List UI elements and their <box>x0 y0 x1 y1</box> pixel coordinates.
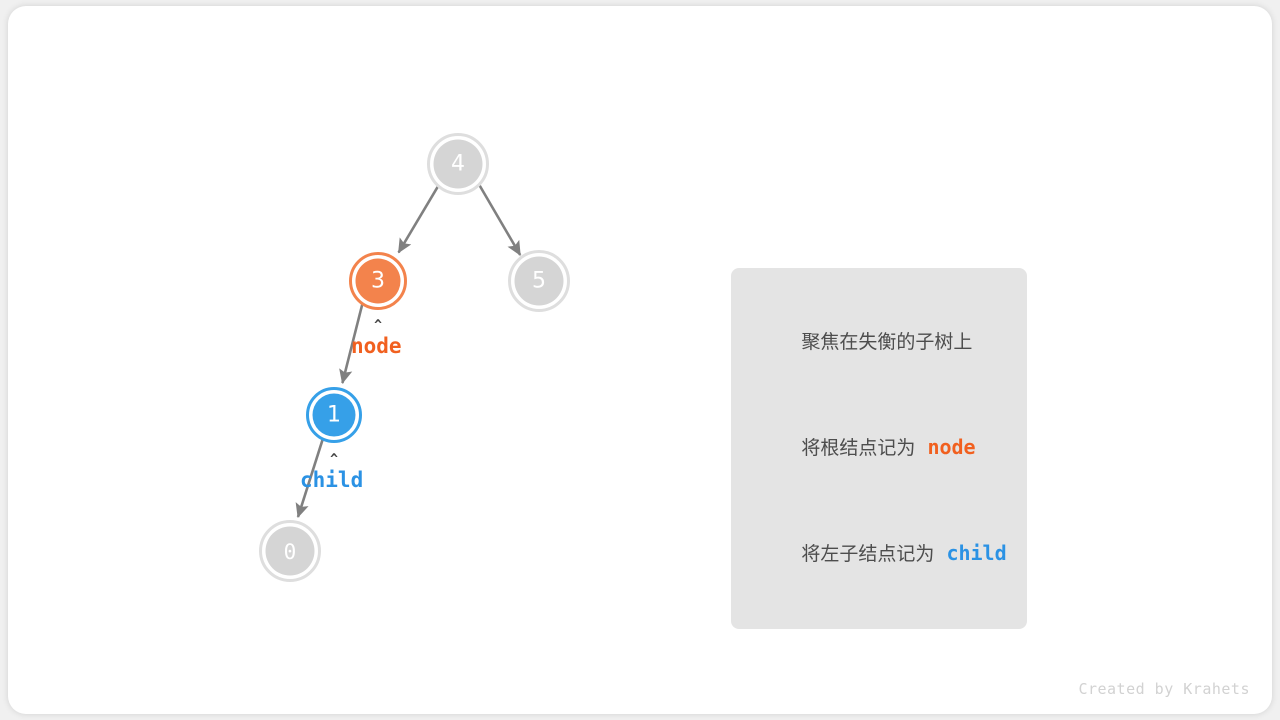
callout-line-3-prefix: 将左子结点记为 <box>801 543 934 565</box>
diagram-card: 4 3 5 1 <box>8 6 1272 714</box>
node-value: 0 <box>284 540 297 564</box>
node-value: 4 <box>451 152 465 177</box>
edge-4-3 <box>399 186 438 252</box>
callout-line-2: 将根结点记为 node <box>753 395 1003 501</box>
node-value: 1 <box>327 403 341 428</box>
callout-line-1: 聚焦在失衡的子树上 <box>753 290 1003 395</box>
annotation-label: node <box>351 334 402 358</box>
edge-4-5 <box>480 186 521 255</box>
node-value: 5 <box>532 269 546 294</box>
callout-line-3: 将左子结点记为 child <box>753 501 1003 607</box>
tree-nodes: 4 3 5 1 <box>261 135 569 581</box>
tree-node-0[interactable]: 0 <box>261 522 320 581</box>
explanation-callout: 聚焦在失衡的子树上 将根结点记为 node 将左子结点记为 child <box>731 268 1027 629</box>
credit-text: Created by Krahets <box>1078 680 1250 698</box>
callout-line-2-prefix: 将根结点记为 <box>801 437 915 459</box>
caret-up-icon: ^ <box>374 318 382 333</box>
tree-node-1[interactable]: 1 <box>308 389 361 442</box>
diagram-stage: 4 3 5 1 <box>8 6 1272 714</box>
callout-code-node: node <box>927 435 975 459</box>
node-value: 3 <box>371 269 385 294</box>
annotation-child: ^ child <box>300 452 363 492</box>
caret-up-icon: ^ <box>330 452 338 467</box>
annotation-label: child <box>300 468 363 492</box>
tree-node-5[interactable]: 5 <box>510 252 569 311</box>
tree-node-4[interactable]: 4 <box>429 135 488 194</box>
tree-node-3[interactable]: 3 <box>351 254 406 309</box>
callout-line-1-text: 聚焦在失衡的子树上 <box>801 331 972 353</box>
callout-code-child: child <box>946 541 1006 565</box>
tree-diagram: 4 3 5 1 <box>8 6 1272 714</box>
